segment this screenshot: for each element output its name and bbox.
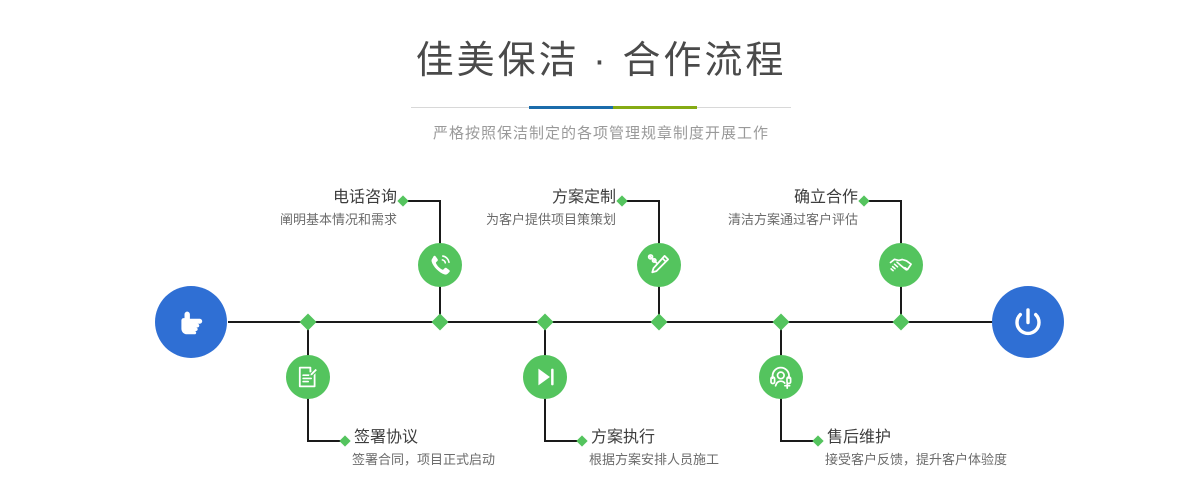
- step-desc: 为客户提供项目策策划: [351, 210, 616, 230]
- axis-diamond-5: [773, 314, 790, 331]
- support-headset-icon: [768, 364, 794, 390]
- step-title: 方案定制: [351, 188, 616, 208]
- pointing-hand-icon: [171, 302, 211, 342]
- end-endpoint-power[interactable]: [992, 286, 1064, 358]
- axis-diamond-4: [651, 314, 668, 331]
- step-icon-sign-document[interactable]: [286, 355, 330, 399]
- start-endpoint-pointing-hand[interactable]: [155, 286, 227, 358]
- step-icon-pencil-ruler[interactable]: [637, 243, 681, 287]
- step-label-bottom-3: 售后维护 接受客户反馈，提升客户体验度: [825, 428, 1145, 470]
- axis-diamond-3: [537, 314, 554, 331]
- label-diamond-top-3: [858, 195, 869, 206]
- label-diamond-bottom-1: [339, 435, 350, 446]
- sign-document-icon: [295, 364, 321, 390]
- step-title: 确立合作: [593, 188, 858, 208]
- play-execute-icon: [532, 364, 558, 390]
- handshake-icon: [888, 252, 914, 278]
- timeline-diagram: [0, 0, 1202, 502]
- step-label-top-3: 确立合作 清洁方案通过客户评估: [593, 188, 858, 230]
- axis-diamond-6: [893, 314, 910, 331]
- phone-call-icon: [427, 252, 453, 278]
- step-desc: 接受客户反馈，提升客户体验度: [825, 450, 1145, 470]
- step-icon-support-headset[interactable]: [759, 355, 803, 399]
- step-label-top-2: 方案定制 为客户提供项目策策划: [351, 188, 616, 230]
- pencil-ruler-icon: [646, 252, 672, 278]
- step-title: 售后维护: [825, 428, 1145, 448]
- power-icon: [1008, 302, 1048, 342]
- step-icon-handshake[interactable]: [879, 243, 923, 287]
- flowchart-page: 佳美保洁 · 合作流程 严格按照保洁制定的各项管理规章制度开展工作: [0, 0, 1202, 502]
- axis-diamond-2: [432, 314, 449, 331]
- step-icon-play-execute[interactable]: [523, 355, 567, 399]
- axis-diamond-1: [300, 314, 317, 331]
- step-icon-phone-call[interactable]: [418, 243, 462, 287]
- step-desc: 清洁方案通过客户评估: [593, 210, 858, 230]
